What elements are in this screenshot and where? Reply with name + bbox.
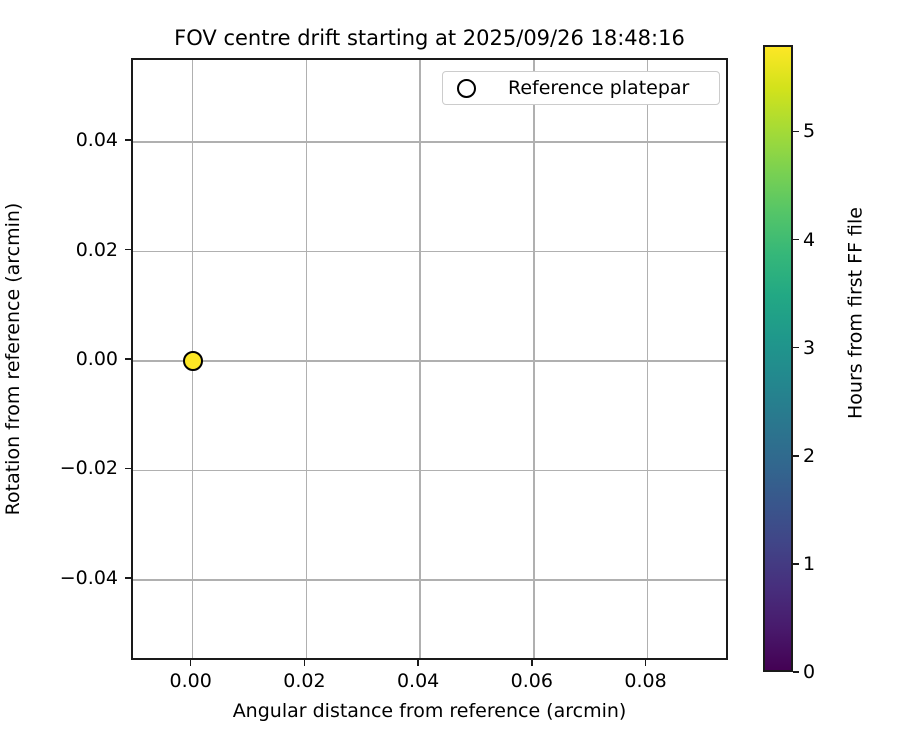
colorbar-tick-label: 5 [803, 120, 815, 142]
colorbar-tick-label: 4 [803, 229, 815, 251]
y-tick-mark [125, 358, 131, 360]
legend[interactable]: Reference platepar [442, 71, 720, 105]
y-tick-mark [125, 468, 131, 470]
data-layer [133, 60, 726, 658]
plot-area[interactable] [131, 58, 728, 660]
colorbar-tick-mark [793, 131, 799, 133]
colorbar-tick-label: 0 [803, 661, 815, 683]
colorbar-tick-mark [793, 671, 799, 673]
x-tick-label: 0.08 [586, 670, 706, 692]
x-tick-label: 0.00 [131, 670, 251, 692]
x-tick-mark [304, 660, 306, 666]
colorbar-tick-label: 3 [803, 337, 815, 359]
colorbar-gradient [763, 45, 793, 672]
x-tick-label: 0.04 [358, 670, 478, 692]
x-tick-mark [645, 660, 647, 666]
colorbar-tick-mark [793, 563, 799, 565]
colorbar-tick-label: 1 [803, 553, 815, 575]
x-tick-mark [417, 660, 419, 666]
colorbar[interactable]: 012345 [763, 45, 793, 672]
y-tick-mark [125, 577, 131, 579]
legend-marker-icon [457, 79, 476, 98]
legend-label: Reference platepar [508, 77, 689, 99]
colorbar-tick-mark [793, 455, 799, 457]
x-tick-mark [190, 660, 192, 666]
x-tick-label: 0.06 [472, 670, 592, 692]
colorbar-tick-mark [793, 347, 799, 349]
y-axis-label: Rotation from reference (arcmin) [0, 58, 26, 660]
page-title: FOV centre drift starting at 2025/09/26 … [131, 26, 728, 51]
x-axis-label: Angular distance from reference (arcmin) [131, 700, 728, 723]
colorbar-tick-mark [793, 239, 799, 241]
x-tick-label: 0.02 [244, 670, 364, 692]
y-tick-mark [125, 249, 131, 251]
x-tick-mark [531, 660, 533, 666]
y-tick-mark [125, 139, 131, 141]
colorbar-tick-label: 2 [803, 445, 815, 467]
colorbar-label: Hours from first FF file [843, 0, 869, 627]
data-point [183, 351, 203, 371]
matplotlib-figure: FOV centre drift starting at 2025/09/26 … [0, 0, 900, 750]
